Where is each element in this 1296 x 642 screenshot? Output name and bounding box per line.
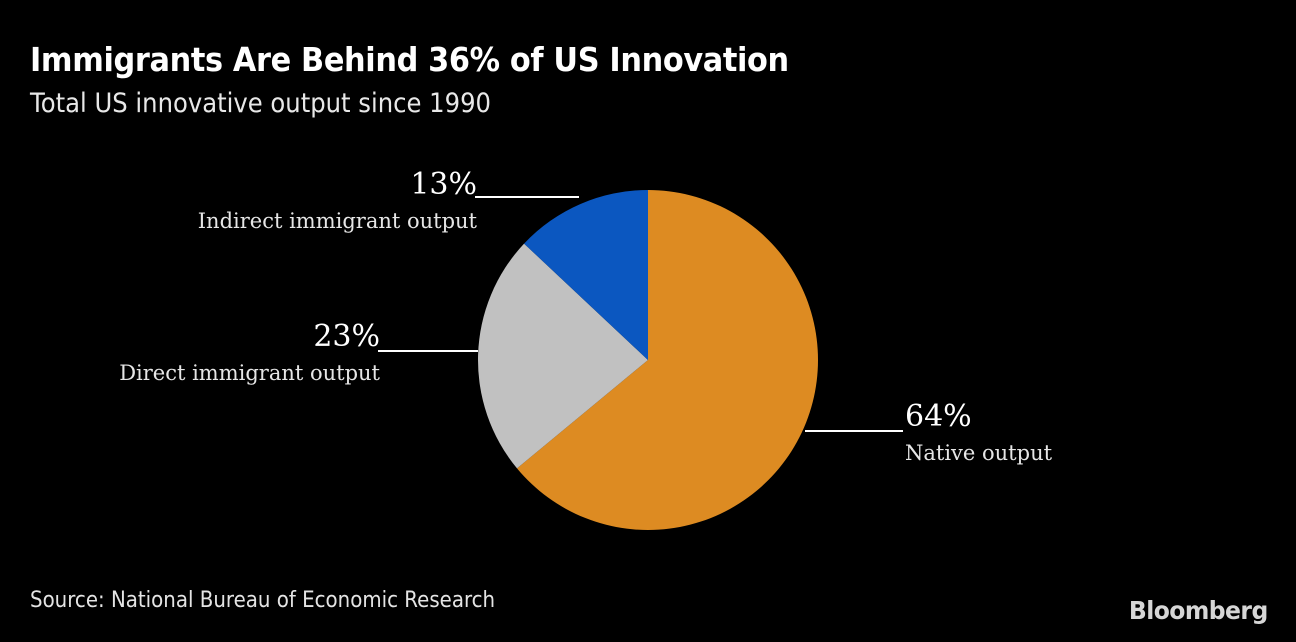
callout-indirect-immigrant: 13% Indirect immigrant output xyxy=(160,170,477,232)
callout-direct-value: 23% xyxy=(85,322,380,352)
source-note: Source: National Bureau of Economic Rese… xyxy=(30,588,495,613)
leader-line-indirect xyxy=(475,196,579,198)
chart-canvas: Immigrants Are Behind 36% of US Innovati… xyxy=(0,0,1296,642)
callout-direct-label: Direct immigrant output xyxy=(85,363,380,384)
pie-chart xyxy=(0,0,1296,642)
callout-native-label: Native output xyxy=(905,443,1165,464)
bloomberg-logo: Bloomberg xyxy=(1129,596,1268,625)
leader-line-direct xyxy=(378,350,478,352)
leader-line-native xyxy=(805,430,903,432)
callout-direct-immigrant: 23% Direct immigrant output xyxy=(85,322,380,384)
callout-indirect-label: Indirect immigrant output xyxy=(160,211,477,232)
callout-native-value: 64% xyxy=(905,402,1165,432)
callout-native: 64% Native output xyxy=(905,402,1165,464)
callout-indirect-value: 13% xyxy=(160,170,477,200)
